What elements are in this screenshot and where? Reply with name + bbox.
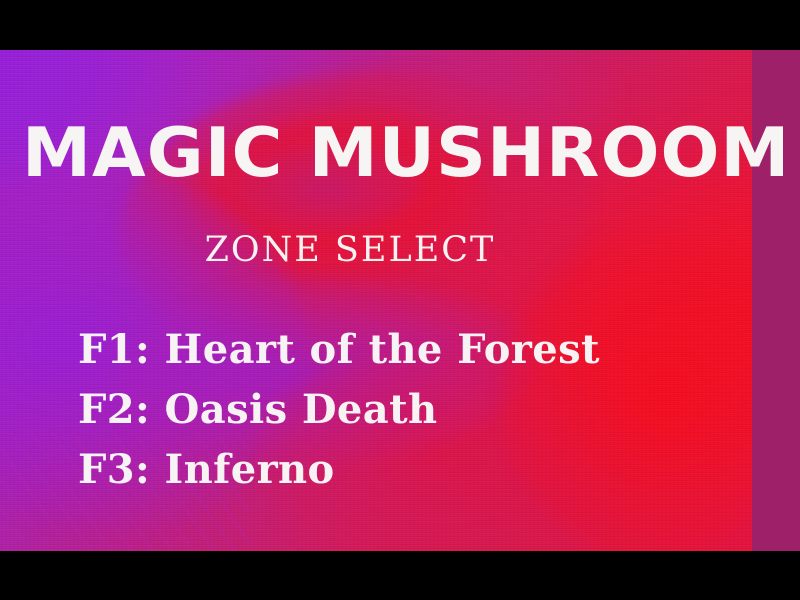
letterbox-bottom-bar [0, 551, 800, 600]
page-title: MAGIC MUSHROOM [22, 120, 752, 188]
zone-select-subtitle: ZONE SELECT [0, 231, 700, 269]
game-screen: MAGIC MUSHROOM ZONE SELECT F1: Heart of … [0, 0, 800, 600]
zone-menu-item-f3[interactable]: F3: Inferno [78, 440, 600, 500]
zone-menu: F1: Heart of the Forest F2: Oasis Death … [78, 320, 600, 500]
zone-menu-item-f2[interactable]: F2: Oasis Death [78, 380, 600, 440]
zone-menu-item-f1[interactable]: F1: Heart of the Forest [78, 320, 600, 380]
letterbox-top-bar [0, 0, 800, 50]
